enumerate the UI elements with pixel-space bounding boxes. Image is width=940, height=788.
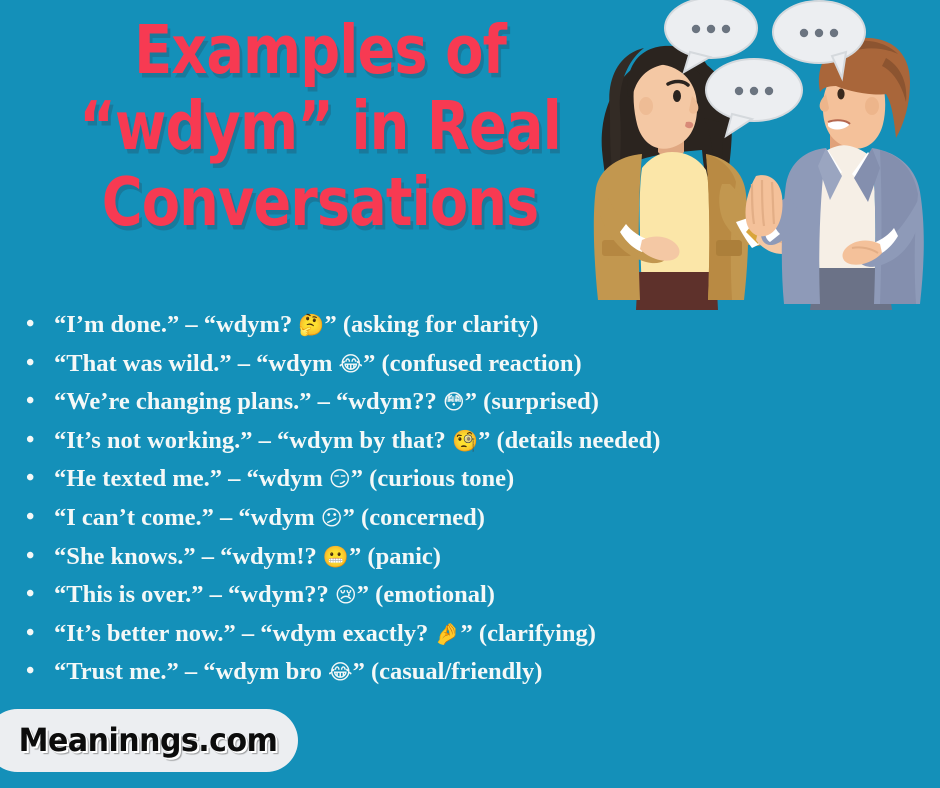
example-quote: “This is over.” – “wdym?? <box>54 581 335 608</box>
example-quote: “I’m done.” – “wdym? <box>54 311 298 338</box>
examples-list: “I’m done.” – “wdym? 🤔” (asking for clar… <box>20 306 920 692</box>
example-note: ” (clarifying) <box>461 620 596 647</box>
example-note: ” (details needed) <box>478 427 660 454</box>
list-item: “She knows.” – “wdym!? 😬” (panic) <box>20 538 920 577</box>
example-quote: “We’re changing plans.” – “wdym?? <box>54 388 443 415</box>
example-quote: “He texted me.” – “wdym <box>54 465 329 492</box>
example-note: ” (asking for clarity) <box>325 311 539 338</box>
two-people-conversation-illustration <box>580 0 940 320</box>
pinched-fingers-emoji: 🤌 <box>434 622 460 646</box>
example-note: ” (emotional) <box>357 581 495 608</box>
flushed-face-emoji: 😳 <box>443 390 465 414</box>
example-quote: “I can’t come.” – “wdym <box>54 504 321 531</box>
list-item: “He texted me.” – “wdym 😏” (curious tone… <box>20 460 920 499</box>
monocle-face-emoji: 🧐 <box>452 429 478 453</box>
list-item: “I can’t come.” – “wdym 😕” (concerned) <box>20 499 920 538</box>
page-title: Examples of “wdym” in Real Conversations <box>40 8 600 236</box>
list-item: “It’s better now.” – “wdym exactly? 🤌” (… <box>20 615 920 654</box>
example-quote: “She knows.” – “wdym!? <box>54 543 323 570</box>
list-item: “We’re changing plans.” – “wdym?? 😳” (su… <box>20 383 920 422</box>
example-quote: “That was wild.” – “wdym <box>54 350 339 377</box>
confused-face-emoji: 😕 <box>321 506 343 530</box>
list-item: “That was wild.” – “wdym 😂” (confused re… <box>20 345 920 384</box>
example-quote: “It’s not working.” – “wdym by that? <box>54 427 452 454</box>
site-brand-badge[interactable]: Meaninngs.com <box>0 709 298 772</box>
example-note: ” (concerned) <box>343 504 485 531</box>
example-note: ” (panic) <box>349 543 441 570</box>
example-quote: “Trust me.” – “wdym bro <box>54 658 328 685</box>
title-line-1: Examples of <box>60 8 581 93</box>
list-item: “This is over.” – “wdym?? 😢” (emotional) <box>20 576 920 615</box>
crying-face-emoji: 😢 <box>335 583 357 607</box>
brand-name: Meaninngs.com <box>19 722 278 760</box>
list-item: “It’s not working.” – “wdym by that? 🧐” … <box>20 422 920 461</box>
joy-face-emoji: 😂 <box>328 660 353 684</box>
example-note: ” (casual/friendly) <box>353 658 543 685</box>
list-item: “Trust me.” – “wdym bro 😂” (casual/frien… <box>20 653 920 692</box>
example-quote: “It’s better now.” – “wdym exactly? <box>54 620 434 647</box>
example-note: ” (confused reaction) <box>363 350 582 377</box>
title-line-2: “wdym” in Real <box>60 84 581 169</box>
smirking-face-emoji: 😏 <box>329 467 351 491</box>
joy-face-emoji: 😂 <box>339 352 364 376</box>
grimacing-face-emoji: 😬 <box>323 545 349 569</box>
example-note: ” (curious tone) <box>351 465 514 492</box>
example-note: ” (surprised) <box>465 388 599 415</box>
thinking-face-emoji: 🤔 <box>298 313 324 337</box>
infographic-canvas: Examples of “wdym” in Real Conversations <box>0 0 940 788</box>
list-item: “I’m done.” – “wdym? 🤔” (asking for clar… <box>20 306 920 345</box>
title-line-3: Conversations <box>60 160 581 245</box>
